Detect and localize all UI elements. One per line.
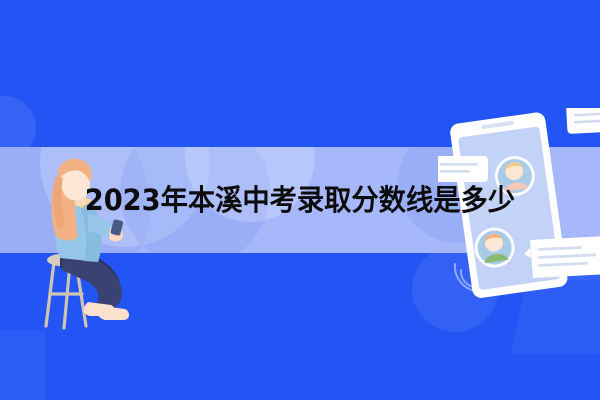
woman-illustration	[24, 150, 154, 340]
phone-illustration	[438, 108, 600, 318]
chat-bubble-right	[524, 236, 600, 278]
banner-image: 2023年本溪中考录取分数线是多少	[0, 0, 600, 400]
woman-shoe-front	[98, 306, 129, 320]
chat-bubble-left	[438, 156, 488, 182]
stool-leg-front	[64, 264, 70, 328]
chat-bubble-top	[566, 108, 600, 134]
